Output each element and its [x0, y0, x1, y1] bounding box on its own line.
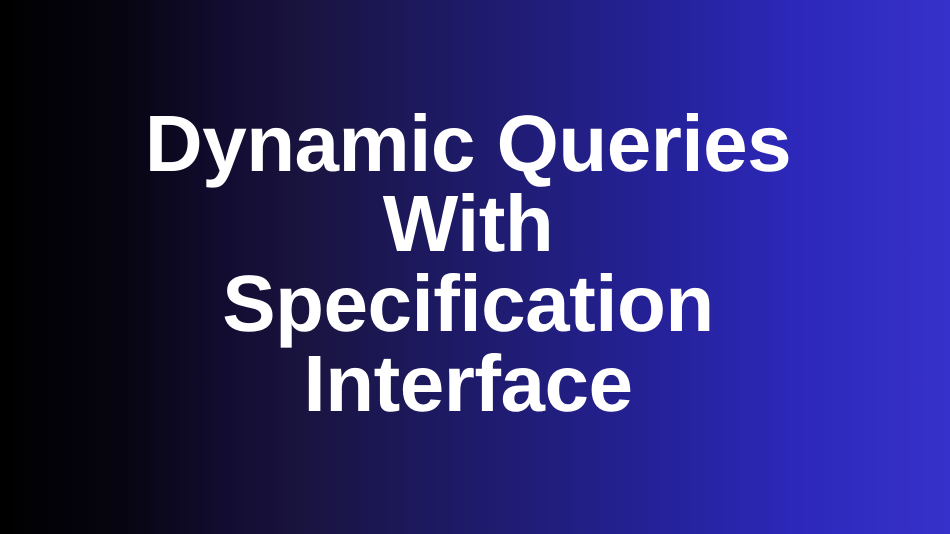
title-card: Dynamic Queries With Specification Inter… — [0, 0, 950, 534]
title-line-4: Interface — [40, 344, 896, 424]
title-line-1: Dynamic Queries — [40, 104, 896, 184]
title-line-3: Specification — [40, 264, 896, 344]
title-line-2: With — [40, 184, 896, 264]
page-title: Dynamic Queries With Specification Inter… — [0, 104, 950, 424]
